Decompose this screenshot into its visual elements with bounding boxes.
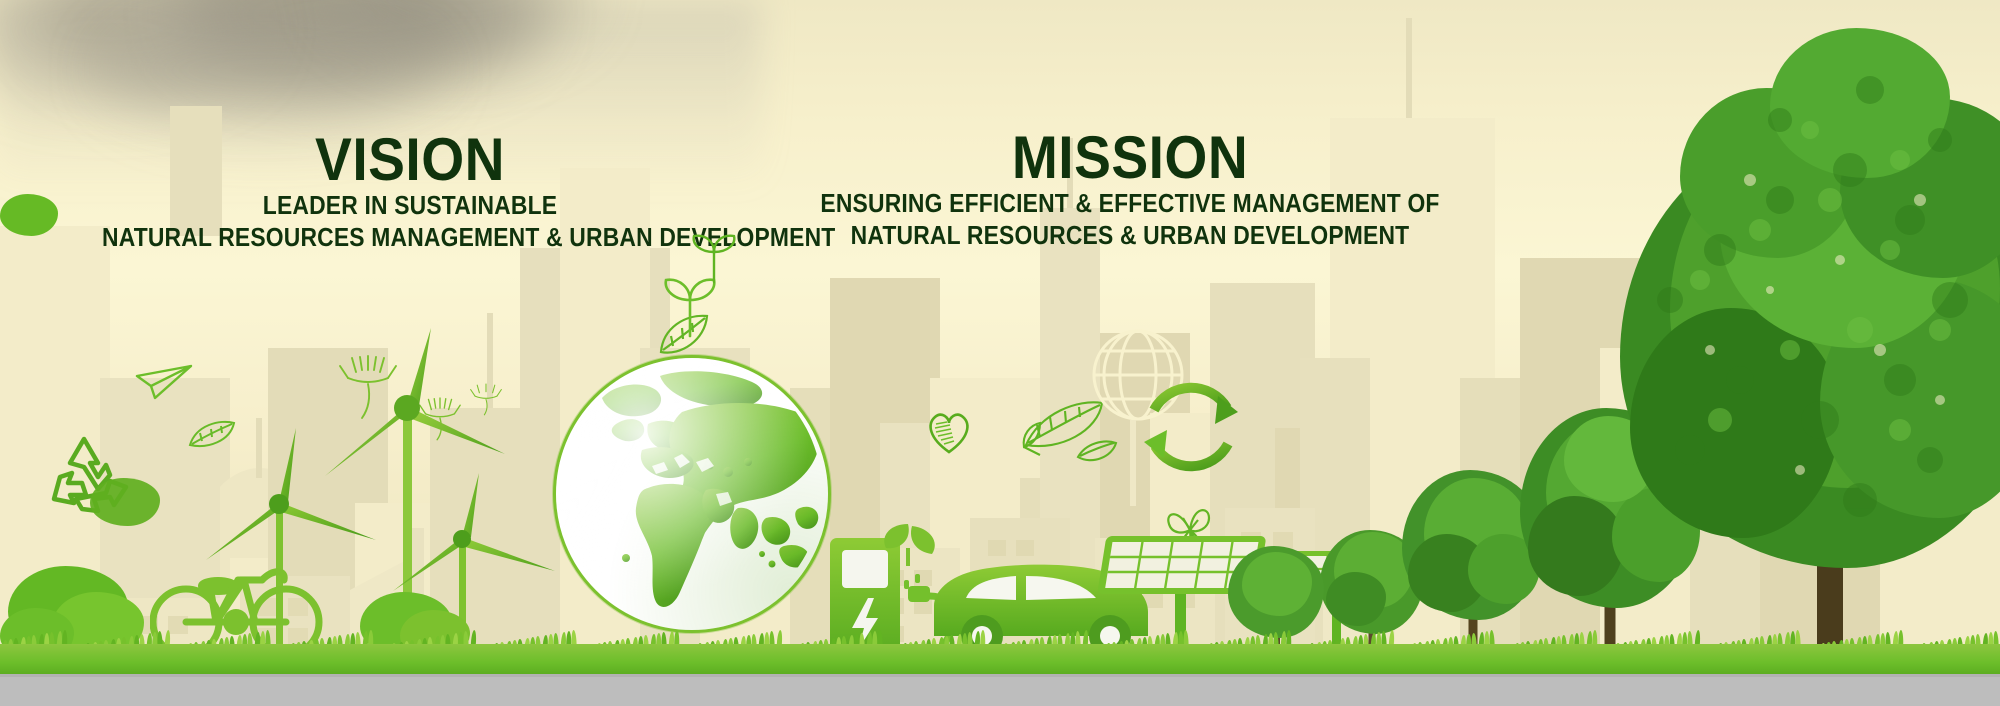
grass-band xyxy=(0,644,2000,678)
mission-subtitle-line2: NATURAL RESOURCES & URBAN DEVELOPMENT xyxy=(752,220,1509,252)
eco-vision-mission-banner: VISION LEADER IN SUSTAINABLE NATURAL RES… xyxy=(0,0,2000,706)
mission-block: MISSION ENSURING EFFICIENT & EFFECTIVE M… xyxy=(700,128,1560,251)
road-strip xyxy=(0,674,2000,706)
vision-block: VISION LEADER IN SUSTAINABLE NATURAL RES… xyxy=(60,130,760,253)
globe-shading xyxy=(556,358,828,630)
paper-plane-icon xyxy=(135,362,195,402)
smoke-cloud-icon xyxy=(330,0,590,60)
sprout-icon xyxy=(680,228,750,284)
earth-globe-icon xyxy=(553,355,831,633)
smoke-cloud-icon xyxy=(180,0,540,90)
smoke-cloud-icon xyxy=(40,0,460,100)
vision-title: VISION xyxy=(88,130,732,190)
tree-foliage-texture xyxy=(1600,0,2000,640)
vision-subtitle-line1: LEADER IN SUSTAINABLE xyxy=(102,190,718,222)
heart-sketch-icon xyxy=(925,410,973,456)
recycle-circle-icon xyxy=(1132,368,1250,486)
bush-icon xyxy=(90,478,160,526)
mission-subtitle-line1: ENSURING EFFICIENT & EFFECTIVE MANAGEMEN… xyxy=(752,188,1509,220)
smoke-cloud-icon xyxy=(100,10,440,130)
smoke-cloud-icon xyxy=(0,0,260,100)
vision-subtitle-line2: NATURAL RESOURCES MANAGEMENT & URBAN DEV… xyxy=(102,222,718,254)
mission-title: MISSION xyxy=(734,128,1525,188)
bush-icon xyxy=(0,194,58,236)
